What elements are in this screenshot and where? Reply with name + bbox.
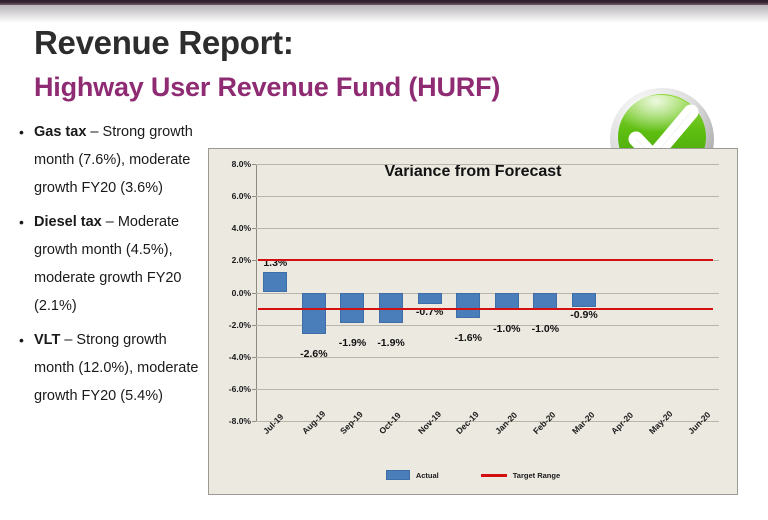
bar-value-label: -1.9% (377, 337, 404, 349)
top-fade (0, 5, 768, 23)
y-axis-tick-label: -2.0% (229, 320, 251, 330)
y-axis-tick-mark (252, 421, 256, 422)
y-axis-tick-label: 0.0% (232, 288, 251, 298)
gridline (256, 389, 719, 390)
legend-label: Actual (416, 471, 439, 480)
y-axis-tick-mark (252, 260, 256, 261)
y-axis-tick-mark (252, 164, 256, 165)
chart-legend: Actual Target Range (209, 470, 737, 480)
bullet-dot-icon: • (19, 208, 24, 236)
chart-bar (263, 272, 287, 293)
gridline (256, 421, 719, 422)
gridline (256, 228, 719, 229)
gridline (256, 164, 719, 165)
y-axis-tick-label: -6.0% (229, 384, 251, 394)
chart-bar (456, 293, 480, 319)
chart-bar (302, 293, 326, 335)
chart-panel: Variance from Forecast 8.0%6.0%4.0%2.0%0… (208, 148, 738, 495)
y-axis-tick-label: -4.0% (229, 352, 251, 362)
y-axis-tick-label: 6.0% (232, 191, 251, 201)
list-item-lead: VLT (34, 332, 60, 348)
target-range-lower-line (258, 308, 713, 310)
y-axis-tick-mark (252, 228, 256, 229)
bar-value-label: -2.6% (300, 348, 327, 360)
chart-bar (572, 293, 596, 307)
y-axis-tick-label: 8.0% (232, 159, 251, 169)
y-axis-tick-mark (252, 293, 256, 294)
chart-bar (418, 293, 442, 304)
y-axis-tick-mark (252, 196, 256, 197)
list-item-lead: Gas tax (34, 124, 86, 140)
legend-item-target-range: Target Range (481, 471, 560, 480)
bar-value-label: -1.6% (454, 332, 481, 344)
bar-value-label: -1.0% (532, 323, 559, 335)
legend-item-actual: Actual (386, 470, 439, 480)
list-item: • Diesel tax – Moderate growth month (4.… (10, 208, 206, 320)
list-item: • VLT – Strong growth month (12.0%), mod… (10, 326, 206, 410)
list-item-lead: Diesel tax (34, 214, 102, 230)
y-axis-tick-mark (252, 357, 256, 358)
bullet-dot-icon: • (19, 326, 24, 354)
bullet-list: • Gas tax – Strong growth month (7.6%), … (10, 118, 206, 416)
bar-value-label: -1.9% (339, 337, 366, 349)
slide-canvas: Revenue Report: Highway User Revenue Fun… (0, 0, 768, 520)
list-item: • Gas tax – Strong growth month (7.6%), … (10, 118, 206, 202)
y-axis-tick-label: -8.0% (229, 416, 251, 426)
page-title: Revenue Report: (34, 24, 294, 62)
y-axis-tick-mark (252, 325, 256, 326)
y-axis-tick-label: 2.0% (232, 255, 251, 265)
bullet-dot-icon: • (19, 118, 24, 146)
y-axis-tick-label: 4.0% (232, 223, 251, 233)
bar-value-label: -1.0% (493, 323, 520, 335)
legend-label: Target Range (513, 471, 560, 480)
y-axis-tick-mark (252, 389, 256, 390)
target-range-upper-line (258, 259, 713, 261)
chart-plot-area: 8.0%6.0%4.0%2.0%0.0%-2.0%-4.0%-6.0%-8.0%… (256, 164, 719, 421)
legend-swatch-bar-icon (386, 470, 410, 480)
gridline (256, 196, 719, 197)
legend-swatch-line-icon (481, 474, 507, 477)
chart-bar (495, 293, 519, 309)
page-subtitle: Highway User Revenue Fund (HURF) (34, 72, 500, 103)
bar-value-label: -0.9% (570, 309, 597, 321)
chart-bar (533, 293, 557, 309)
